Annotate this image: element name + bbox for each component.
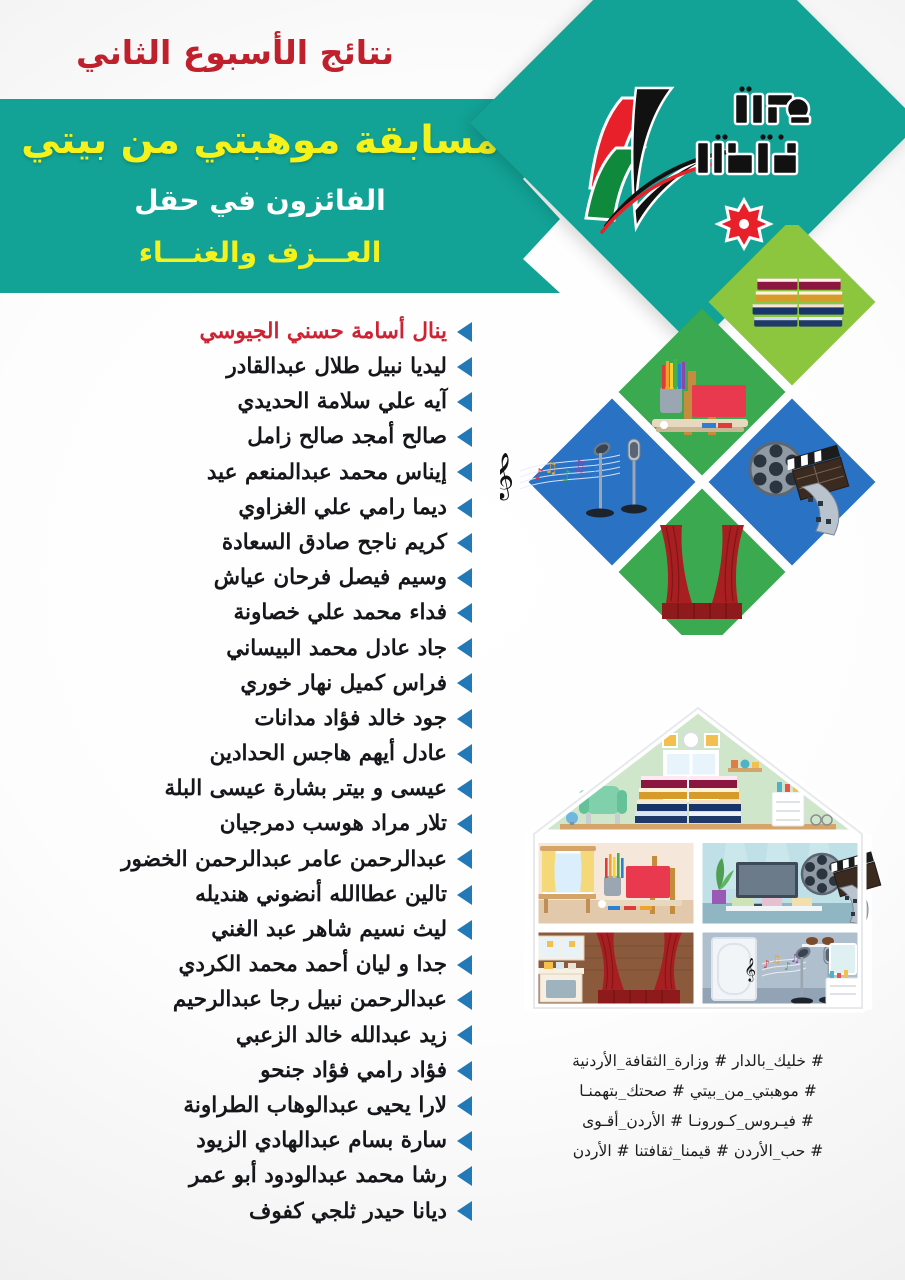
bullet-arrow-icon bbox=[457, 1061, 472, 1081]
competition-title: مسابقة موهبتي من بيتي bbox=[0, 121, 520, 160]
bullet-arrow-icon bbox=[457, 1131, 472, 1151]
winners-list: ينال أسامة حسني الجيوسي ليديا نبيل طلال … bbox=[0, 314, 472, 1229]
svg-text:𝄞: 𝄞 bbox=[500, 453, 514, 501]
list-item[interactable]: جاد عادل محمد البيساني bbox=[0, 631, 472, 666]
svg-text:♪: ♪ bbox=[562, 467, 572, 485]
list-item[interactable]: جود خالد فؤاد مدانات bbox=[0, 701, 472, 736]
winner-name: رشا محمد عبدالودود أبو عمر bbox=[189, 1165, 447, 1187]
list-item[interactable]: عيسى و بيتر بشارة عيسى البلة bbox=[0, 771, 472, 806]
bullet-arrow-icon bbox=[457, 673, 472, 693]
bullet-arrow-icon bbox=[457, 920, 472, 940]
svg-text:♫: ♫ bbox=[545, 459, 558, 477]
list-item[interactable]: فراس كميل نهار خوري bbox=[0, 666, 472, 701]
winner-name: ديانا حيدر ثلجي كفوف bbox=[249, 1201, 447, 1223]
winner-name: عيسى و بيتر بشارة عيسى البلة bbox=[165, 778, 447, 800]
winner-name: عبدالرحمن عامر عبدالرحمن الخضور bbox=[121, 849, 447, 871]
winner-name: تالين عطاالله أنضوني هنديله bbox=[195, 884, 447, 906]
banner-category: العـــزف والغنـــاء bbox=[0, 239, 520, 267]
winner-name: سارة بسام عبدالهادي الزيود bbox=[196, 1130, 447, 1152]
poster-root: نتائج الأسبوع الثاني مسابقة موهبتي من بي… bbox=[0, 0, 905, 1280]
room-music: 𝄞 ♪ ♫ ♪ ♫ bbox=[702, 932, 864, 1005]
list-item[interactable]: إيناس محمد عبدالمنعم عيد bbox=[0, 455, 472, 490]
winner-name: ليديا نبيل طلال عبدالقادر bbox=[226, 356, 447, 378]
house-illustration: 𝄞 ♪ ♫ ♪ ♫ bbox=[500, 700, 900, 1030]
diamond-collage: 𝄞 ♪ ♫ ♪ ♫ ♪ bbox=[500, 225, 900, 635]
hashtag-block: # خليك_بالدار # وزارة_الثقافة_الأردنية #… bbox=[498, 1046, 898, 1166]
list-item[interactable]: لارا يحيى عبدالوهاب الطراونة bbox=[0, 1088, 472, 1123]
hashtag-line[interactable]: # موهبتي_من_بيتي # صحتك_بتهمنـا bbox=[498, 1076, 898, 1106]
list-item[interactable]: صالح أمجد صالح زامل bbox=[0, 420, 472, 455]
winner-name: فؤاد رامي فؤاد جنحو bbox=[260, 1060, 447, 1082]
bullet-arrow-icon bbox=[457, 568, 472, 588]
hashtag-line[interactable]: # فيـروس_كـورونـا # الأردن_أقـوى bbox=[498, 1106, 898, 1136]
winner-name: لارا يحيى عبدالوهاب الطراونة bbox=[183, 1095, 447, 1117]
house-illustration-icon: 𝄞 ♪ ♫ ♪ ♫ bbox=[500, 700, 900, 1030]
list-item[interactable]: رشا محمد عبدالودود أبو عمر bbox=[0, 1159, 472, 1194]
list-item[interactable]: كريم ناجح صادق السعادة bbox=[0, 525, 472, 560]
banner-subtitle: الفائزون في حقل bbox=[0, 187, 520, 215]
list-item[interactable]: تالين عطاالله أنضوني هنديله bbox=[0, 877, 472, 912]
svg-text:♫: ♫ bbox=[771, 953, 781, 966]
winner-name: وسيم فيصل فرحان عياش bbox=[214, 567, 447, 589]
winner-name: جدا و ليان أحمد محمد الكردي bbox=[179, 954, 448, 976]
house-attic bbox=[540, 712, 856, 834]
winner-name: فراس كميل نهار خوري bbox=[240, 673, 447, 695]
list-item[interactable]: جدا و ليان أحمد محمد الكردي bbox=[0, 947, 472, 982]
list-item[interactable]: ديما رامي علي الغزاوي bbox=[0, 490, 472, 525]
room-theater-stage bbox=[534, 932, 694, 1004]
list-item[interactable]: ديانا حيدر ثلجي كفوف bbox=[0, 1194, 472, 1229]
winner-name: عبدالرحمن نبيل رجا عبدالرحيم bbox=[173, 989, 447, 1011]
bullet-arrow-icon bbox=[457, 744, 472, 764]
bullet-arrow-icon bbox=[457, 462, 472, 482]
bullet-arrow-icon bbox=[457, 814, 472, 834]
bullet-arrow-icon bbox=[457, 1025, 472, 1045]
bullet-arrow-icon bbox=[457, 885, 472, 905]
list-item[interactable]: فؤاد رامي فؤاد جنحو bbox=[0, 1053, 472, 1088]
bullet-arrow-icon bbox=[457, 709, 472, 729]
bullet-arrow-icon bbox=[457, 638, 472, 658]
winner-name: ينال أسامة حسني الجيوسي bbox=[200, 321, 448, 343]
hashtag-line[interactable]: # حب_الأردن # قيمنا_ثقافتنا # الأردن bbox=[498, 1136, 898, 1166]
list-item[interactable]: ليث نسيم شاهر عبد الغني bbox=[0, 912, 472, 947]
winner-name: ليث نسيم شاهر عبد الغني bbox=[211, 919, 447, 941]
svg-text:𝄞: 𝄞 bbox=[744, 957, 756, 982]
list-item[interactable]: عبدالرحمن عامر عبدالرحمن الخضور bbox=[0, 842, 472, 877]
room-cinema bbox=[702, 843, 881, 925]
list-item[interactable]: ينال أسامة حسني الجيوسي bbox=[0, 314, 472, 349]
winner-name: آيه علي سلامة الحديدي bbox=[238, 391, 447, 413]
winner-name: جود خالد فؤاد مدانات bbox=[254, 708, 447, 730]
bullet-arrow-icon bbox=[457, 498, 472, 518]
bullet-arrow-icon bbox=[457, 1201, 472, 1221]
list-item[interactable]: عبدالرحمن نبيل رجا عبدالرحيم bbox=[0, 983, 472, 1018]
bullet-arrow-icon bbox=[457, 357, 472, 377]
list-item[interactable]: وسيم فيصل فرحان عياش bbox=[0, 560, 472, 595]
winner-name: جاد عادل محمد البيساني bbox=[226, 638, 447, 660]
winner-name: ديما رامي علي الغزاوي bbox=[238, 497, 447, 519]
svg-text:♫: ♫ bbox=[573, 457, 586, 475]
header-banner-text: مسابقة موهبتي من بيتي الفائزون في حقل ال… bbox=[0, 99, 520, 293]
hashtag-line[interactable]: # خليك_بالدار # وزارة_الثقافة_الأردنية bbox=[498, 1046, 898, 1076]
winner-name: كريم ناجح صادق السعادة bbox=[222, 532, 447, 554]
bullet-arrow-icon bbox=[457, 322, 472, 342]
list-item[interactable]: تلار مراد هوسب دمرجيان bbox=[0, 807, 472, 842]
room-art-studio bbox=[534, 843, 694, 925]
list-item[interactable]: فداء محمد علي خصاونة bbox=[0, 596, 472, 631]
bullet-arrow-icon bbox=[457, 779, 472, 799]
svg-text:♪: ♪ bbox=[590, 463, 600, 481]
winner-name: تلار مراد هوسب دمرجيان bbox=[220, 813, 447, 835]
winner-name: إيناس محمد عبدالمنعم عيد bbox=[207, 462, 447, 484]
bullet-arrow-icon bbox=[457, 603, 472, 623]
winner-name: فداء محمد علي خصاونة bbox=[234, 602, 447, 624]
winner-name: زيد عبدالله خالد الزعبي bbox=[236, 1025, 447, 1047]
list-item[interactable]: عادل أيهم هاجس الحدادين bbox=[0, 736, 472, 771]
list-item[interactable]: سارة بسام عبدالهادي الزيود bbox=[0, 1123, 472, 1158]
bullet-arrow-icon bbox=[457, 392, 472, 412]
list-item[interactable]: زيد عبدالله خالد الزعبي bbox=[0, 1018, 472, 1053]
bullet-arrow-icon bbox=[457, 1096, 472, 1116]
bullet-arrow-icon bbox=[457, 849, 472, 869]
list-item[interactable]: آيه علي سلامة الحديدي bbox=[0, 384, 472, 419]
svg-text:♪: ♪ bbox=[763, 958, 770, 971]
winner-name: صالح أمجد صالح زامل bbox=[247, 426, 447, 448]
bullet-arrow-icon bbox=[457, 955, 472, 975]
bullet-arrow-icon bbox=[457, 427, 472, 447]
winner-name: عادل أيهم هاجس الحدادين bbox=[210, 743, 447, 765]
bullet-arrow-icon bbox=[457, 990, 472, 1010]
diamond-collage-icon: 𝄞 ♪ ♫ ♪ ♫ ♪ bbox=[500, 225, 900, 635]
list-item[interactable]: ليديا نبيل طلال عبدالقادر bbox=[0, 349, 472, 384]
svg-text:♪: ♪ bbox=[534, 465, 544, 483]
page-title: نتائج الأسبوع الثاني bbox=[0, 36, 470, 69]
bullet-arrow-icon bbox=[457, 533, 472, 553]
bullet-arrow-icon bbox=[457, 1166, 472, 1186]
